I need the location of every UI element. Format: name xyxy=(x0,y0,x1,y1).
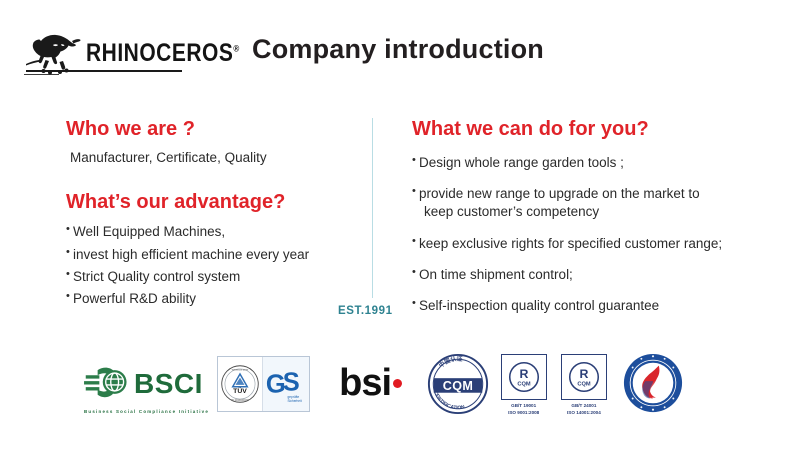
svg-text:R: R xyxy=(579,367,588,381)
left-bullet-list: Well Equipped Machines, invest high effi… xyxy=(66,223,366,308)
bsci-tagline: Business Social Compliance Initiative xyxy=(84,409,209,414)
cert-logo-emblem xyxy=(622,353,684,417)
cert-logo-iso-9001: R CQM GB/T 19001 ISO 9001:2008 xyxy=(498,354,550,416)
list-item: provide new range to upgrade on the mark… xyxy=(412,185,784,222)
list-item: Well Equipped Machines, xyxy=(66,223,366,241)
cert-logo-bsci: BSCI Business Social Compliance Initiati… xyxy=(84,352,211,420)
svg-text:CQM: CQM xyxy=(442,379,473,393)
certification-logo-row: BSCI Business Social Compliance Initiati… xyxy=(84,352,684,424)
cert-logo-cqm: CQM 中国认证 CERTIFICATION xyxy=(426,354,490,418)
bsi-wordmark: bsi xyxy=(339,364,391,402)
iso-14001-caption-line1: GB/T 24001 xyxy=(567,403,601,410)
iso-14001-caption: GB/T 24001 ISO 14001:2004 xyxy=(567,403,601,416)
logo-underline xyxy=(26,70,182,72)
list-item: Design whole range garden tools ; xyxy=(412,154,784,172)
blue-circle-red-flame-emblem-icon xyxy=(622,352,684,419)
gs-mark-icon: G S geprüfte Sicherheit xyxy=(263,357,308,411)
list-item: keep exclusive rights for specified cust… xyxy=(412,235,784,253)
slide-header: RHINOCEROS® Company introduction xyxy=(0,0,800,100)
registered-trademark-icon: ® xyxy=(233,43,239,54)
list-item-text: Design whole range garden tools ; xyxy=(419,155,624,170)
svg-text:www.tuv.com: www.tuv.com xyxy=(232,367,249,371)
svg-text:Sicherheit: Sicherheit xyxy=(288,399,302,403)
svg-text:ID 000000000: ID 000000000 xyxy=(231,398,249,402)
svg-text:CQM: CQM xyxy=(517,382,531,388)
cqm-seal-icon: CQM 中国认证 CERTIFICATION xyxy=(426,352,490,421)
cqm-r-box-icon: R CQM xyxy=(501,354,547,400)
list-item-continuation: keep customer’s competency xyxy=(419,203,784,221)
bsci-wordmark: BSCI xyxy=(134,370,203,398)
brand-wordmark: RHINOCEROS® xyxy=(86,41,240,66)
left-heading-advantage: What’s our advantage? xyxy=(66,191,366,215)
iso-9001-caption-line1: GB/T 19001 xyxy=(508,403,539,410)
svg-text:CQM: CQM xyxy=(577,382,591,388)
tuv-gs-mark-icon: TÜV www.tuv.com ID 000000000 xyxy=(218,357,263,411)
svg-text:R: R xyxy=(519,367,528,381)
iso-9001-caption: GB/T 19001 ISO 9001:2008 xyxy=(508,403,539,416)
bsci-globe-hand-icon xyxy=(84,365,130,404)
list-item: Powerful R&D ability xyxy=(66,290,366,308)
right-bullet-list: Design whole range garden tools ; provid… xyxy=(412,154,784,316)
list-item: On time shipment control; xyxy=(412,266,784,284)
page-title: Company introduction xyxy=(252,34,544,65)
cert-logo-iso-14001: R CQM GB/T 24001 ISO 14001:2004 xyxy=(558,354,610,416)
list-item-text: keep exclusive rights for specified cust… xyxy=(419,236,722,251)
list-item-text: Self-inspection quality control guarante… xyxy=(419,298,659,313)
iso-9001-caption-line2: ISO 9001:2008 xyxy=(508,410,539,417)
list-item-text: provide new range to upgrade on the mark… xyxy=(419,186,700,201)
svg-text:TÜV: TÜV xyxy=(233,386,247,395)
svg-text:S: S xyxy=(283,369,300,397)
cert-logo-bsi: bsi xyxy=(324,352,418,414)
list-item-text: On time shipment control; xyxy=(419,267,573,282)
column-divider xyxy=(372,118,373,298)
left-subtitle: Manufacturer, Certificate, Quality xyxy=(70,149,366,167)
iso-14001-caption-line2: ISO 14001:2004 xyxy=(567,410,601,417)
cert-logo-tuv-gs: TÜV www.tuv.com ID 000000000 G S geprüft… xyxy=(217,356,310,412)
rhinoceros-logo-icon xyxy=(24,31,82,75)
right-column: What we can do for you? Design whole ran… xyxy=(412,118,784,329)
list-item: Strict Quality control system xyxy=(66,268,366,286)
left-column: Who we are ? Manufacturer, Certificate, … xyxy=(66,118,366,313)
slide-root: RHINOCEROS® Company introduction Who we … xyxy=(0,0,800,449)
right-heading-what-we-can-do: What we can do for you? xyxy=(412,118,784,142)
left-heading-who-we-are: Who we are ? xyxy=(66,118,366,142)
cqm-r-box-icon: R CQM xyxy=(561,354,607,400)
established-label: EST.1991 xyxy=(338,305,393,317)
bsi-red-dot-icon xyxy=(393,379,402,388)
list-item: invest high efficient machine every year xyxy=(66,246,366,264)
list-item: Self-inspection quality control guarante… xyxy=(412,297,784,315)
